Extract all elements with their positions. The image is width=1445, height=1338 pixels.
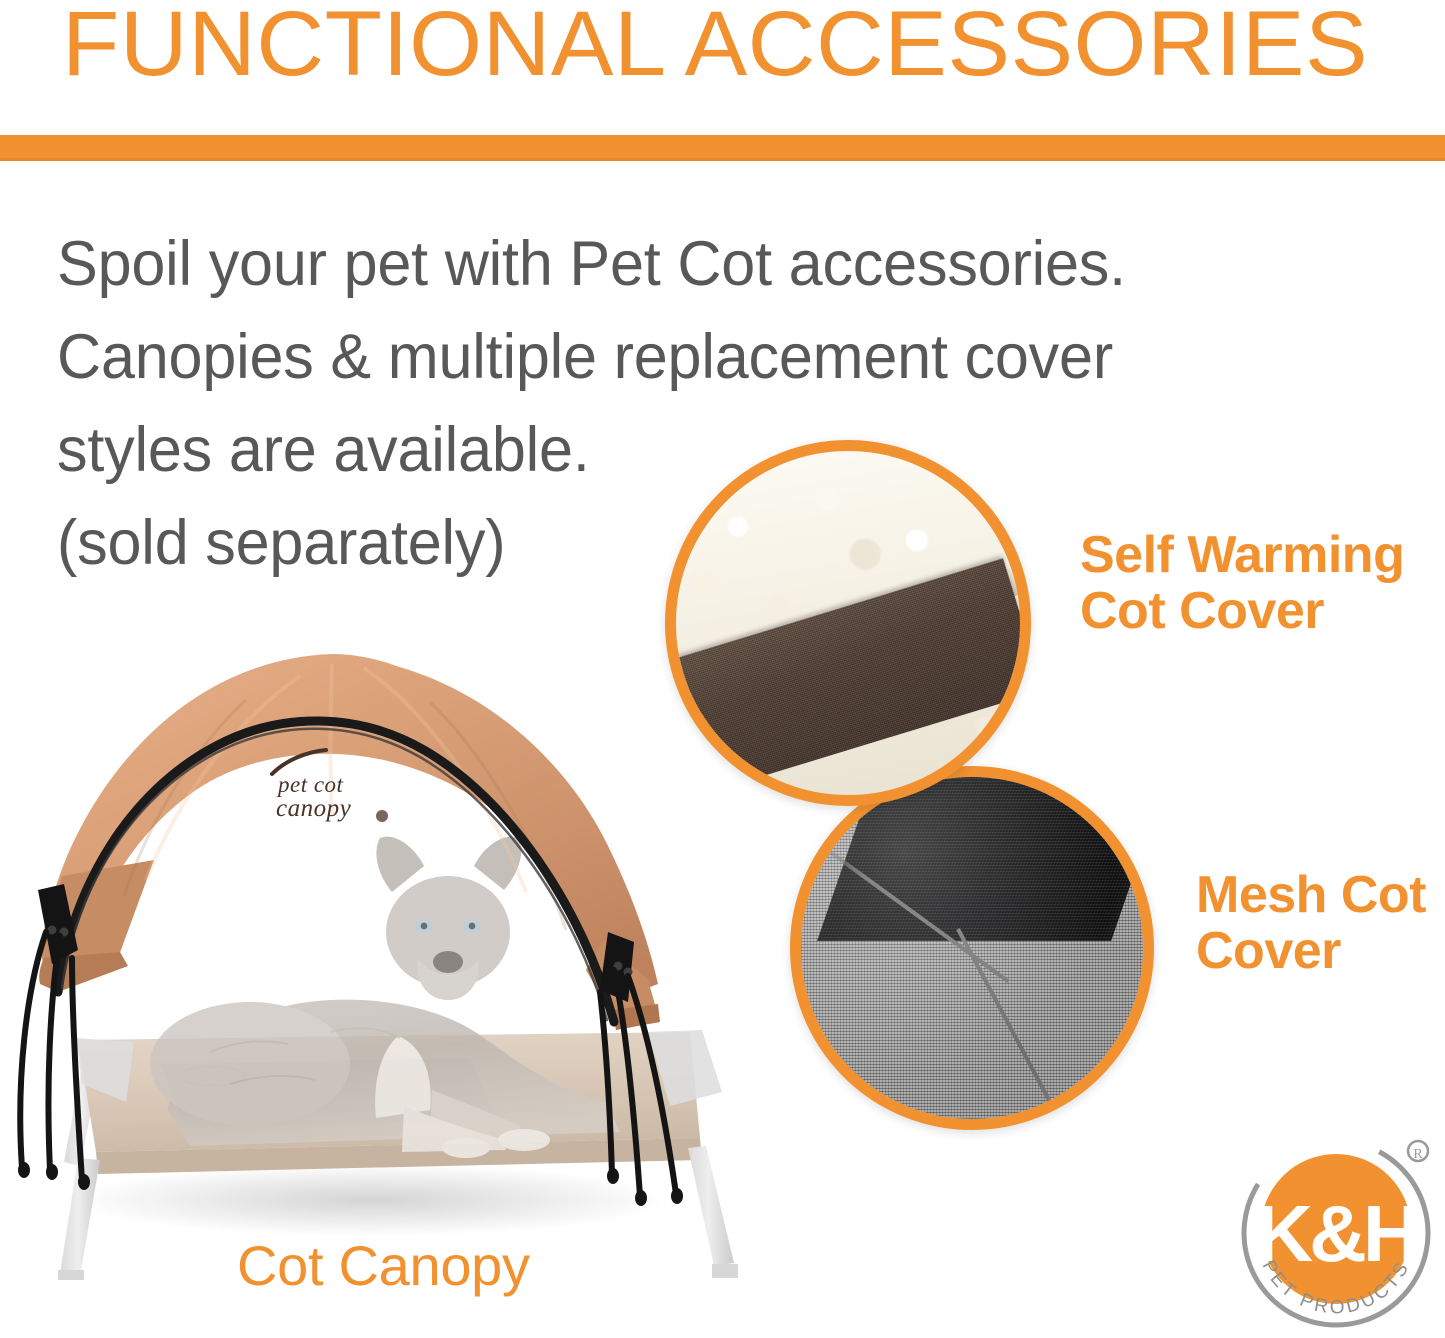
- registered-mark-icon: R: [1408, 1141, 1428, 1162]
- feature-label-self-warming-line-2: Cot Cover: [1080, 583, 1440, 639]
- feature-label-mesh-line-2: Cover: [1196, 923, 1445, 979]
- svg-text:R: R: [1413, 1147, 1423, 1162]
- svg-text:pet cot: pet cot: [276, 772, 344, 797]
- feature-label-self-warming: Self Warming Cot Cover: [1080, 527, 1440, 639]
- mesh-highlight: [801, 777, 1143, 1119]
- feature-label-mesh-line-1: Mesh Cot: [1196, 867, 1445, 923]
- product-photo-cot-canopy: pet cot canopy: [0, 640, 760, 1280]
- header-divider-rule: [0, 135, 1445, 161]
- feature-label-mesh: Mesh Cot Cover: [1196, 867, 1445, 979]
- body-copy-line-4: (sold separately): [57, 497, 1250, 590]
- ground-shadow: [70, 1164, 670, 1236]
- body-copy-line-1: Spoil your pet with Pet Cot accessories.: [57, 218, 1250, 311]
- poster-canvas: FUNCTIONAL ACCESSORIES Spoil your pet wi…: [0, 0, 1445, 1336]
- product-caption: Cot Canopy: [237, 1236, 530, 1296]
- body-copy: Spoil your pet with Pet Cot accessories.…: [57, 218, 1250, 590]
- body-copy-line-2: Canopies & multiple replacement cover: [57, 311, 1250, 404]
- svg-text:canopy: canopy: [276, 795, 352, 822]
- feature-photo-mesh: [790, 766, 1154, 1130]
- page-title: FUNCTIONAL ACCESSORIES: [62, 0, 1445, 98]
- body-copy-line-3: styles are available.: [57, 404, 1250, 497]
- feature-label-self-warming-line-1: Self Warming: [1080, 527, 1440, 583]
- brand-logo-kh: K&H PET PRODUCTS R: [1236, 1133, 1436, 1333]
- feature-photo-self-warming: [665, 440, 1031, 806]
